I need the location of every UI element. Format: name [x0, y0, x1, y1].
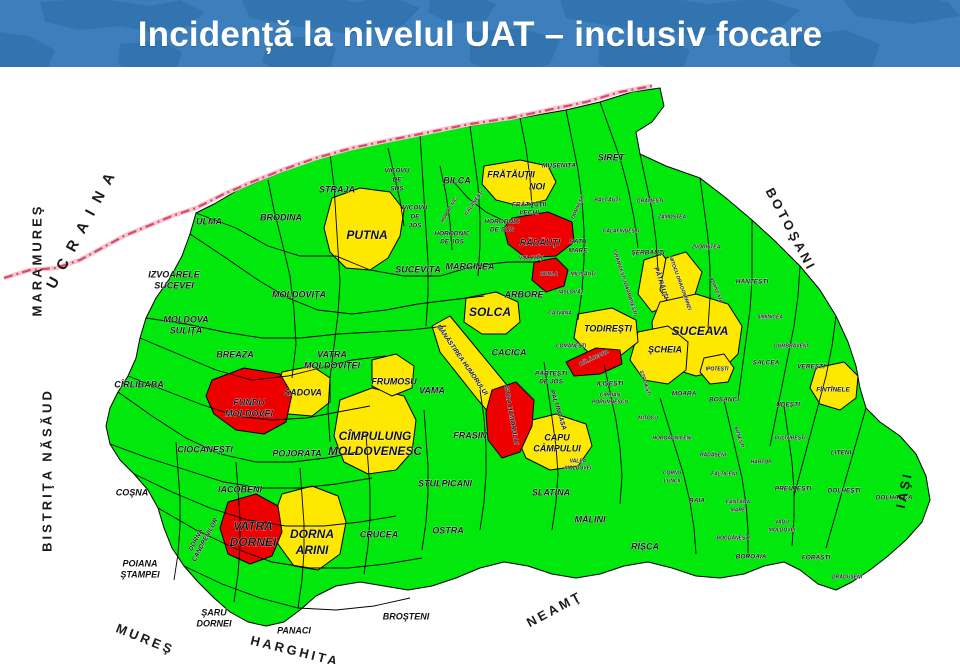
- uat-label: PÂRTEŞTI: [535, 369, 567, 378]
- uat-label: FRĂTĂUŢII: [487, 168, 535, 179]
- uat-label: SLATINA: [532, 487, 570, 497]
- uat-label: ILIŞEŞTI: [597, 381, 624, 388]
- uat-label: VADU: [775, 519, 789, 525]
- uat-label: LUNCII: [664, 478, 681, 484]
- slide-header: Incidență la nivelul UAT – inclusiv foca…: [0, 0, 960, 70]
- uat-label: BREAZA: [216, 349, 254, 359]
- uat-label: DORNEI: [196, 618, 232, 628]
- uat-label: IZVOARELE: [148, 269, 201, 279]
- uat-label: DOLHEŞTI: [828, 488, 861, 495]
- uat-label: DE: [410, 214, 420, 221]
- uat-label: ŞARU: [201, 607, 227, 617]
- uat-label: ZVORIŞTEA: [691, 244, 721, 250]
- uat-label: POIANA: [122, 558, 157, 568]
- uat-label: POJORÂTA: [272, 447, 321, 458]
- uat-label: COMĂNEŞTI: [556, 342, 587, 349]
- uat-label: SUCEVEI: [154, 280, 194, 290]
- county-label-harghita: HARGHITA: [249, 633, 342, 664]
- uat-label: SADOVA: [284, 387, 322, 397]
- header-underline: [0, 67, 960, 70]
- uat-label: DE SUS: [490, 227, 515, 234]
- map-container: ULMABRODINAIZVOARELESUCEVEIMOLDOVASULIŢA…: [0, 70, 960, 664]
- uat-label: MOLDOVIŢEI: [304, 360, 360, 370]
- uat-label: STRAJA: [319, 184, 355, 194]
- uat-label: FORĂŞTI: [802, 553, 831, 562]
- uat-label: ARBORE: [503, 289, 544, 299]
- uat-label: JOS: [408, 223, 422, 230]
- uat-label: CORNU: [663, 470, 682, 476]
- uat-label: VECHI: [519, 210, 539, 217]
- uat-label: BOROAIA: [736, 554, 767, 561]
- uat-label: DE JOS: [539, 379, 564, 386]
- uat-label: CACICA: [492, 347, 527, 357]
- uat-label: ULMA: [196, 216, 222, 226]
- uat-label: RĂDĂŞENI: [700, 451, 727, 458]
- uat-label: PUTNA: [346, 228, 387, 242]
- uat-label: MILIŞĂUŢI: [571, 270, 597, 277]
- uat-label: PREUTEŞTI: [775, 486, 812, 493]
- uat-label: ŞTAMPEI: [120, 569, 160, 579]
- uat-label: FRASIN: [453, 430, 487, 440]
- uat-label: VICOVU: [385, 168, 410, 175]
- uat-label: ZAMOSTEA: [657, 214, 686, 220]
- uat-label: ARINI: [295, 543, 329, 557]
- uat-label: MARE: [568, 248, 588, 255]
- uat-label: GRĂMEŞTI: [637, 197, 664, 204]
- uat-label: CÎRLIBABA: [114, 378, 164, 389]
- uat-label: CÎMPULUNG: [339, 428, 412, 443]
- uat-label: BROŞTENI: [383, 611, 430, 621]
- uat-label: LITENI: [831, 450, 852, 457]
- county-label-mures: MUREŞ: [114, 620, 177, 657]
- uat-label: BURLA: [540, 271, 558, 277]
- suceava-county-map[interactable]: ULMABRODINAIZVOARELESUCEVEIMOLDOVASULIŢA…: [0, 70, 960, 664]
- uat-label: MUŞENIŢA: [542, 163, 576, 170]
- uat-label: DUMBRĂVENI: [774, 342, 809, 349]
- uat-label: VAMA: [419, 385, 445, 395]
- uat-label: PORUMBESCU: [592, 399, 629, 405]
- uat-label: BĂLCĂUŢI: [594, 196, 620, 203]
- uat-label: BILCA: [443, 175, 471, 185]
- uat-label: FRUMOSU: [371, 376, 417, 386]
- uat-label: MOLDOVA: [163, 314, 208, 324]
- uat-label: FÂNTÂNA: [726, 498, 751, 505]
- uat-label: ŞCHEIA: [648, 344, 682, 354]
- uat-label: IACOBENI: [218, 484, 263, 494]
- uat-label: VICOVU: [403, 205, 428, 212]
- uat-label: CAJVANA: [548, 310, 572, 316]
- uat-label: SIMINICEA: [757, 314, 783, 320]
- uat-label: BAIA: [689, 498, 705, 505]
- uat-label: SATU: [569, 239, 587, 246]
- uat-label: FRĂTĂUŢII: [512, 200, 546, 209]
- uat-label: CRUCEA: [360, 529, 399, 539]
- county-label-bistrita-nasaud: BISTRIŢA NĂSĂUD: [39, 388, 54, 552]
- uat-label: VATRA: [233, 519, 273, 533]
- uat-label: HOROADNICENI: [652, 435, 692, 441]
- uat-label: SALCEA: [753, 360, 780, 367]
- uat-label: FĂLTICENI: [711, 470, 737, 477]
- uat-label: BOSANCI: [709, 397, 739, 404]
- uat-label: VATRA: [317, 349, 347, 359]
- uat-label: BOGDĂNEŞTI: [716, 534, 750, 541]
- uat-label: MOLDOVEI: [769, 527, 796, 533]
- uat-label: MOLDOVEI: [225, 408, 274, 418]
- uat-label: VULTUREŞTI: [774, 435, 806, 441]
- uat-label: MITOCU: [638, 415, 658, 421]
- uat-label: VALEA: [570, 458, 587, 464]
- uat-label: MOLDOVEI: [565, 465, 592, 471]
- uat-label: VEREŞTI: [797, 364, 825, 371]
- uat-label: VOLOVĂŢ: [519, 254, 544, 261]
- uat-label: CALAFINDEŞTI: [603, 228, 640, 234]
- uat-label: OSTRA: [432, 525, 464, 535]
- uat-label: PANACI: [277, 625, 311, 635]
- uat-label: UDEŞTI: [776, 402, 800, 409]
- uat-label: FUNDU: [233, 397, 265, 407]
- uat-label: DE: [392, 177, 402, 184]
- uat-label: MARGINEA: [446, 261, 495, 271]
- uat-label: SOLCA: [469, 305, 511, 319]
- uat-label: DORNEI: [230, 535, 277, 549]
- uat-label: HÂNŢEŞTI: [736, 277, 769, 286]
- page-title: Incidență la nivelul UAT – inclusiv foca…: [0, 0, 960, 70]
- uat-label: ŞERBĂUŢI: [631, 248, 664, 257]
- uat-label: RÎŞCA: [631, 540, 659, 551]
- uat-label: DORNA: [290, 527, 334, 541]
- uat-label: STULPICANI: [418, 478, 472, 488]
- uat-label: IPOTEŞTI: [706, 366, 729, 372]
- uat-label: SUS: [390, 186, 404, 193]
- uat-label: MOLDOVENESC: [328, 444, 422, 458]
- uat-label: MOARA: [672, 391, 697, 398]
- uat-label: MOLDOVIŢA: [272, 289, 326, 299]
- uat-label: IASLOVĂŢ: [558, 288, 584, 295]
- uat-label: MĂLINI: [575, 513, 606, 524]
- uat-label: BRODINA: [260, 212, 302, 222]
- slide-root: Incidență la nivelul UAT – inclusiv foca…: [0, 0, 960, 664]
- uat-label: RĂDĂUŢI: [520, 236, 561, 247]
- county-label-neamt: NEAMŢ: [524, 588, 585, 630]
- uat-label: HÂRTOP: [751, 458, 773, 465]
- uat-label: HORODNIC: [484, 219, 520, 226]
- uat-label: SUCEVIŢA: [395, 264, 441, 274]
- uat-label: FÎNTÎNELE: [816, 385, 850, 394]
- uat-label: CIOCĂNEŞTI: [177, 443, 233, 454]
- uat-label: CIPRIAN: [600, 392, 621, 398]
- uat-label: CAPU: [544, 432, 570, 442]
- uat-label: MARE: [731, 507, 746, 513]
- uat-label: DRĂGUŞENI: [832, 573, 863, 580]
- uat-label: SUCEAVA: [672, 324, 729, 338]
- county-label-ucraina: U C R A I N A: [43, 168, 120, 292]
- uat-label: DE JOS: [440, 239, 465, 246]
- county-label-maramures: MARAMUREŞ: [29, 204, 44, 317]
- uat-label: SIRET: [598, 152, 626, 162]
- uat-label: NOI: [529, 181, 546, 191]
- uat-label: HORODNIC: [434, 231, 470, 238]
- uat-label: CÂMPULUI: [533, 442, 581, 453]
- uat-label: SULIŢA: [170, 325, 203, 335]
- uat-label: COŞNA: [116, 487, 149, 497]
- uat-label: TODIREŞTI: [584, 323, 632, 333]
